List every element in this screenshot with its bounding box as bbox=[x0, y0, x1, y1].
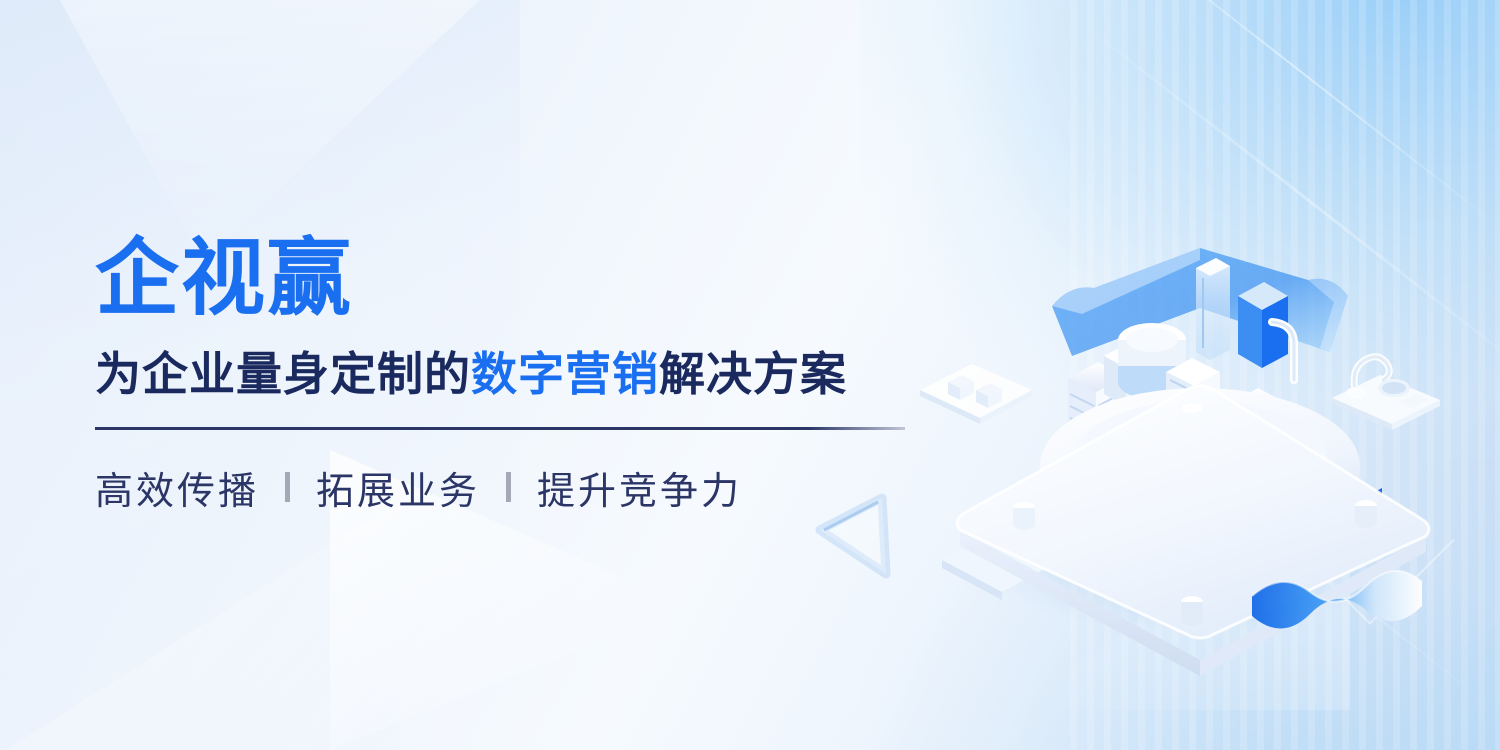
subtitle-lead: 为企业量身定制的 bbox=[95, 348, 471, 400]
brand-title: 企视赢 bbox=[95, 236, 915, 320]
banner-text-block: 企视赢 为企业量身定制的数字营销解决方案 高效传播 拓展业务 提升竞争力 bbox=[95, 236, 915, 515]
floating-robot-arm-tile bbox=[1332, 357, 1440, 430]
subtitle-highlight: 数字营销 bbox=[471, 348, 659, 400]
banner-tagline: 高效传播 拓展业务 提升竞争力 bbox=[95, 460, 915, 515]
marketing-banner: 企视赢 为企业量身定制的数字营销解决方案 高效传播 拓展业务 提升竞争力 bbox=[0, 0, 1500, 750]
subtitle-tail: 解决方案 bbox=[659, 348, 847, 400]
tagline-separator-2 bbox=[506, 472, 511, 502]
tagline-item-2: 拓展业务 bbox=[316, 460, 480, 515]
banner-subtitle: 为企业量身定制的数字营销解决方案 bbox=[95, 348, 915, 401]
tagline-item-3: 提升竞争力 bbox=[537, 460, 742, 515]
background-light-streak-1 bbox=[1095, 0, 1500, 232]
tagline-item-1: 高效传播 bbox=[95, 460, 259, 515]
floating-mini-building-tile bbox=[920, 364, 1032, 424]
hero-illustration bbox=[900, 230, 1480, 650]
background-facet-lower-left bbox=[0, 500, 400, 750]
base-plate bbox=[942, 386, 1429, 676]
background-facet-upper-left bbox=[60, 0, 480, 260]
divider-rule bbox=[95, 427, 905, 430]
tagline-separator-1 bbox=[285, 472, 290, 502]
